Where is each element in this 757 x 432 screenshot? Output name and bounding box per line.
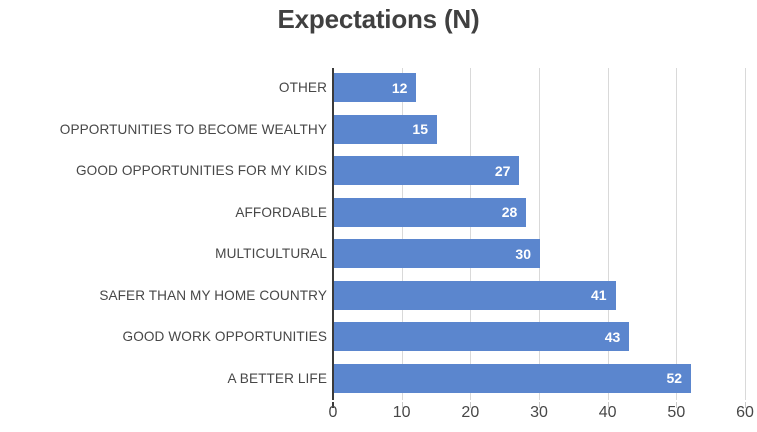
bar[interactable]: 27 [334, 156, 519, 185]
bar-chart: Expectations (N) OTHER12OPPORTUNITIES TO… [0, 0, 757, 432]
x-tick-label: 0 [303, 404, 363, 422]
plot-area: OTHER12OPPORTUNITIES TO BECOME WEALTHY15… [0, 62, 757, 402]
bar-container: 27 [334, 150, 519, 192]
category-label: MULTICULTURAL [0, 233, 327, 275]
bar-row: SAFER THAN MY HOME COUNTRY41 [0, 275, 757, 317]
x-tick-label: 20 [440, 404, 500, 422]
bar-value-label: 28 [502, 205, 518, 219]
bar-row: MULTICULTURAL30 [0, 233, 757, 275]
category-label: AFFORDABLE [0, 192, 327, 234]
bar[interactable]: 43 [334, 322, 629, 351]
x-tick-label: 50 [646, 404, 706, 422]
bar[interactable]: 30 [334, 239, 540, 268]
bar-container: 30 [334, 233, 540, 275]
bar-value-label: 43 [605, 330, 621, 344]
bar[interactable]: 41 [334, 281, 616, 310]
category-label: OTHER [0, 67, 327, 109]
value-axis-line [332, 68, 334, 400]
bar-container: 52 [334, 358, 691, 400]
x-axis-tick-labels: 0102030405060 [0, 402, 757, 432]
category-label: GOOD WORK OPPORTUNITIES [0, 316, 327, 358]
bar-value-label: 15 [412, 122, 428, 136]
x-tick-label: 30 [509, 404, 569, 422]
chart-title: Expectations (N) [0, 2, 757, 36]
bar-container: 15 [334, 109, 437, 151]
x-tick-label: 60 [715, 404, 757, 422]
category-label: A BETTER LIFE [0, 358, 327, 400]
bar-value-label: 30 [515, 247, 531, 261]
bar-rows: OTHER12OPPORTUNITIES TO BECOME WEALTHY15… [0, 62, 757, 402]
bar-row: AFFORDABLE28 [0, 192, 757, 234]
bar-row: A BETTER LIFE52 [0, 358, 757, 400]
bar-container: 12 [334, 67, 416, 109]
bar[interactable]: 52 [334, 364, 691, 393]
bar-value-label: 52 [666, 371, 682, 385]
bar-row: GOOD OPPORTUNITIES FOR MY KIDS27 [0, 150, 757, 192]
x-tick-label: 40 [578, 404, 638, 422]
category-label: SAFER THAN MY HOME COUNTRY [0, 275, 327, 317]
bar-value-label: 12 [392, 81, 408, 95]
bar-row: OPPORTUNITIES TO BECOME WEALTHY15 [0, 109, 757, 151]
bar-container: 43 [334, 316, 629, 358]
category-label: OPPORTUNITIES TO BECOME WEALTHY [0, 109, 327, 151]
bar-value-label: 41 [591, 288, 607, 302]
x-tick-label: 10 [372, 404, 432, 422]
bar-value-label: 27 [495, 164, 511, 178]
category-label: GOOD OPPORTUNITIES FOR MY KIDS [0, 150, 327, 192]
bar[interactable]: 28 [334, 198, 526, 227]
bar-row: GOOD WORK OPPORTUNITIES43 [0, 316, 757, 358]
bar-container: 41 [334, 275, 616, 317]
bar[interactable]: 15 [334, 115, 437, 144]
bar[interactable]: 12 [334, 73, 416, 102]
bar-container: 28 [334, 192, 526, 234]
bar-row: OTHER12 [0, 67, 757, 109]
